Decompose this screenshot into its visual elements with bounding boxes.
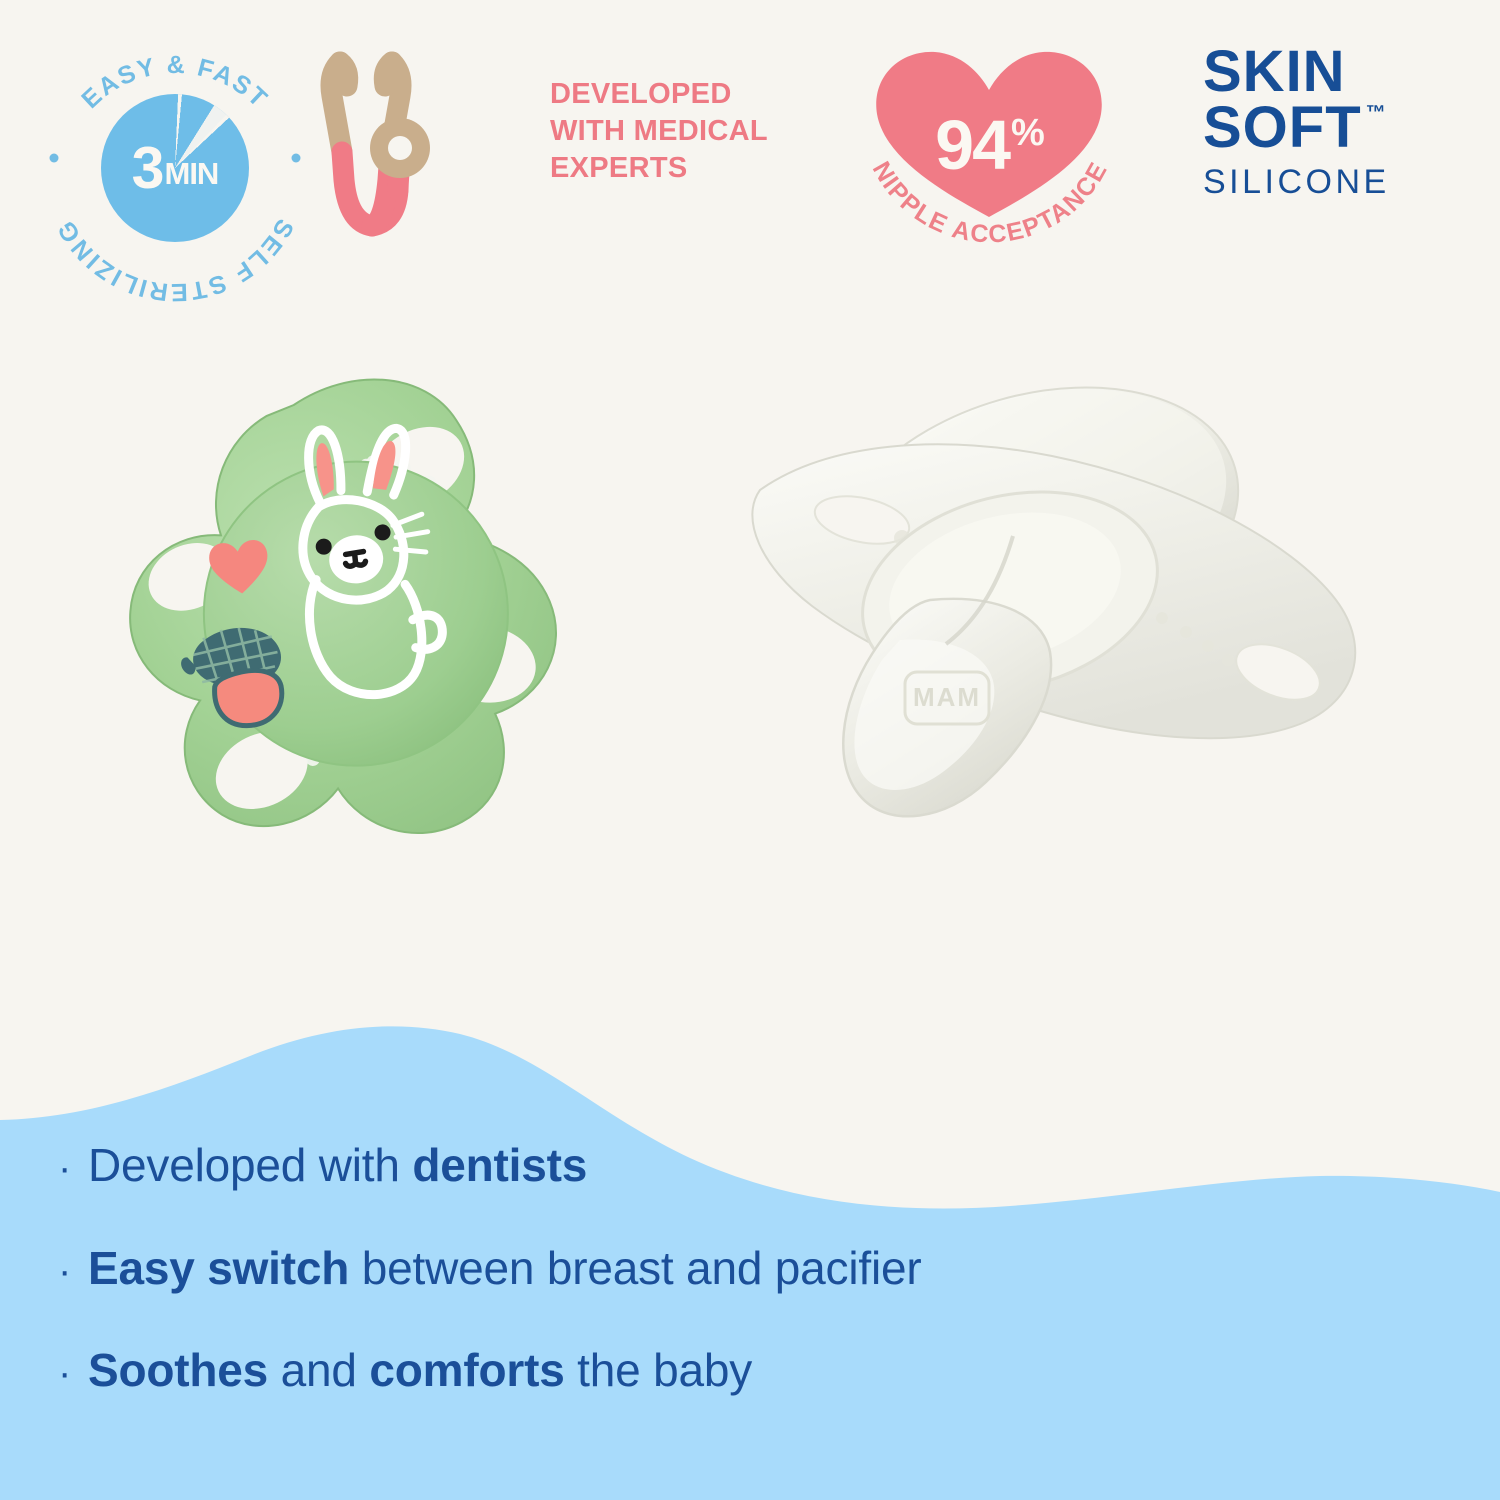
product-infographic: EASY & FAST SELF STERILIZING 3 MIN [0,0,1500,1500]
product-image-area: MAM [0,300,1500,1020]
clear-pacifier: MAM [752,343,1355,817]
medical-line-3: EXPERTS [550,150,850,187]
arc-dot-right [292,154,301,163]
feature-text-2: Easy switch between breast and pacifier [88,1243,921,1294]
badge-row: EASY & FAST SELF STERILIZING 3 MIN [0,0,1500,300]
medical-experts-text: DEVELOPED WITH MEDICAL EXPERTS [550,76,850,187]
arc-dot-left [50,154,59,163]
skin-soft-line-1: SKIN [1203,44,1473,99]
badge-self-sterilizing: EASY & FAST SELF STERILIZING 3 MIN [40,36,310,286]
pacifier-pair-illustration: MAM [0,300,1500,1020]
trademark-symbol: ™ [1366,102,1386,124]
list-item: · Soothes and comforts the baby [0,1345,1240,1396]
badge-medical-experts: DEVELOPED WITH MEDICAL EXPERTS [310,40,840,260]
feature-text-3: Soothes and comforts the baby [88,1345,752,1396]
feature-text-1: Developed with dentists [88,1140,587,1191]
badge-skin-soft-silicone: SKIN SOFT™ SILICONE [1203,44,1473,254]
medical-line-2: WITH MEDICAL [550,113,850,150]
skin-soft-line-2: SOFT [1203,99,1362,157]
acceptance-arc-text: NIPPLE ACCEPTANCE [855,32,1155,282]
features-panel: · Developed with dentists · Easy switch … [0,1000,1500,1500]
list-item: · Easy switch between breast and pacifie… [0,1243,1240,1294]
bullet-icon: · [58,1353,88,1393]
sterilizing-value-group: 3 MIN [101,94,249,242]
mam-emboss-text: MAM [913,682,981,712]
feature-bullet-list: · Developed with dentists · Easy switch … [0,1140,1240,1448]
acceptance-arc-label: NIPPLE ACCEPTANCE [867,157,1113,249]
medical-line-1: DEVELOPED [550,76,850,113]
bullet-icon: · [58,1251,88,1291]
list-item: · Developed with dentists [0,1140,1240,1191]
badge-nipple-acceptance: 94 % NIPPLE ACCEPTANCE [855,32,1155,282]
skin-soft-line-3: SILICONE [1203,163,1473,202]
sterilizing-value: 3 [132,139,164,198]
green-pacifier [107,363,575,862]
bullet-icon: · [58,1148,88,1188]
stethoscope-icon [310,40,560,260]
sterilizing-unit: MIN [165,158,219,189]
